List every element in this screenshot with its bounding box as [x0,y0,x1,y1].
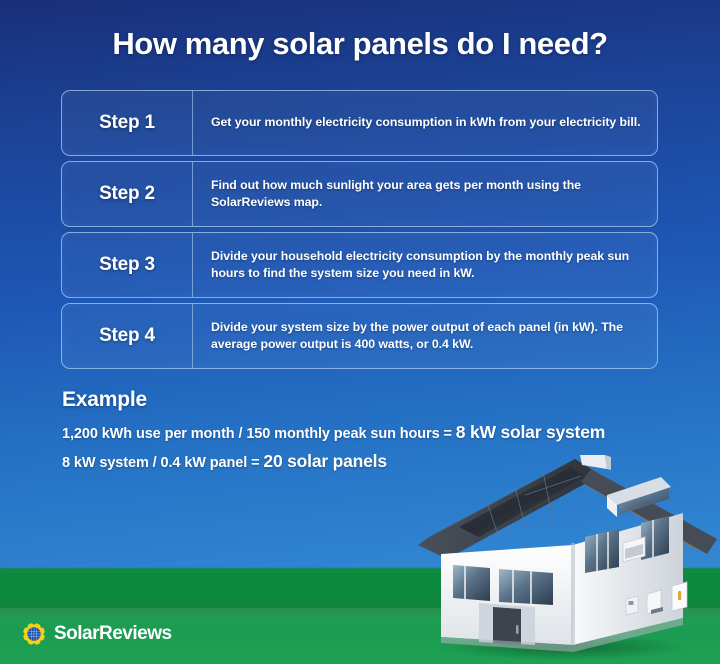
example-line-1-result: 8 kW solar system [456,422,605,442]
step-description: Divide your household electricity consum… [193,233,657,297]
house-gable-highlight [571,543,575,645]
step-label: Step 1 [62,91,193,155]
electric-meter [626,596,638,615]
step-label: Step 2 [62,162,193,226]
inverter-indicator [678,591,681,600]
step-row: Step 1 Get your monthly electricity cons… [61,90,658,156]
house-illustration [395,455,720,664]
side-window-upper-left [585,529,619,573]
front-window-left [453,565,490,601]
front-window-right [499,569,553,605]
step-label: Step 3 [62,233,193,297]
example-calculation-line-1: 1,200 kWh use per month / 150 monthly pe… [62,422,682,443]
step-description: Divide your system size by the power out… [193,304,657,368]
logo-wordmark: SolarReviews [54,623,172,645]
steps-list: Step 1 Get your monthly electricity cons… [61,90,658,374]
solar-panel-infographic: How many solar panels do I need? Step 1 … [0,0,720,664]
step-label: Step 4 [62,304,193,368]
example-section: Example 1,200 kWh use per month / 150 mo… [62,388,682,480]
example-line-2-result: 20 solar panels [263,451,386,471]
example-line-2-prefix: 8 kW system / 0.4 kW panel = [62,455,263,471]
example-heading: Example [62,388,682,412]
example-calculation-line-2: 8 kW system / 0.4 kW panel = 20 solar pa… [62,451,682,472]
sun-icon [22,622,46,646]
step-description: Get your monthly electricity consumption… [193,91,657,155]
door-handle [516,625,519,634]
example-line-1-prefix: 1,200 kWh use per month / 150 monthly pe… [62,426,456,442]
electric-meter-display [629,601,634,605]
step-row: Step 2 Find out how much sunlight your a… [61,161,658,227]
solarreviews-logo[interactable]: SolarReviews [22,622,172,646]
step-description: Find out how much sunlight your area get… [193,162,657,226]
page-title: How many solar panels do I need? [0,26,720,62]
step-row: Step 4 Divide your system size by the po… [61,303,658,369]
step-row: Step 3 Divide your household electricity… [61,232,658,298]
